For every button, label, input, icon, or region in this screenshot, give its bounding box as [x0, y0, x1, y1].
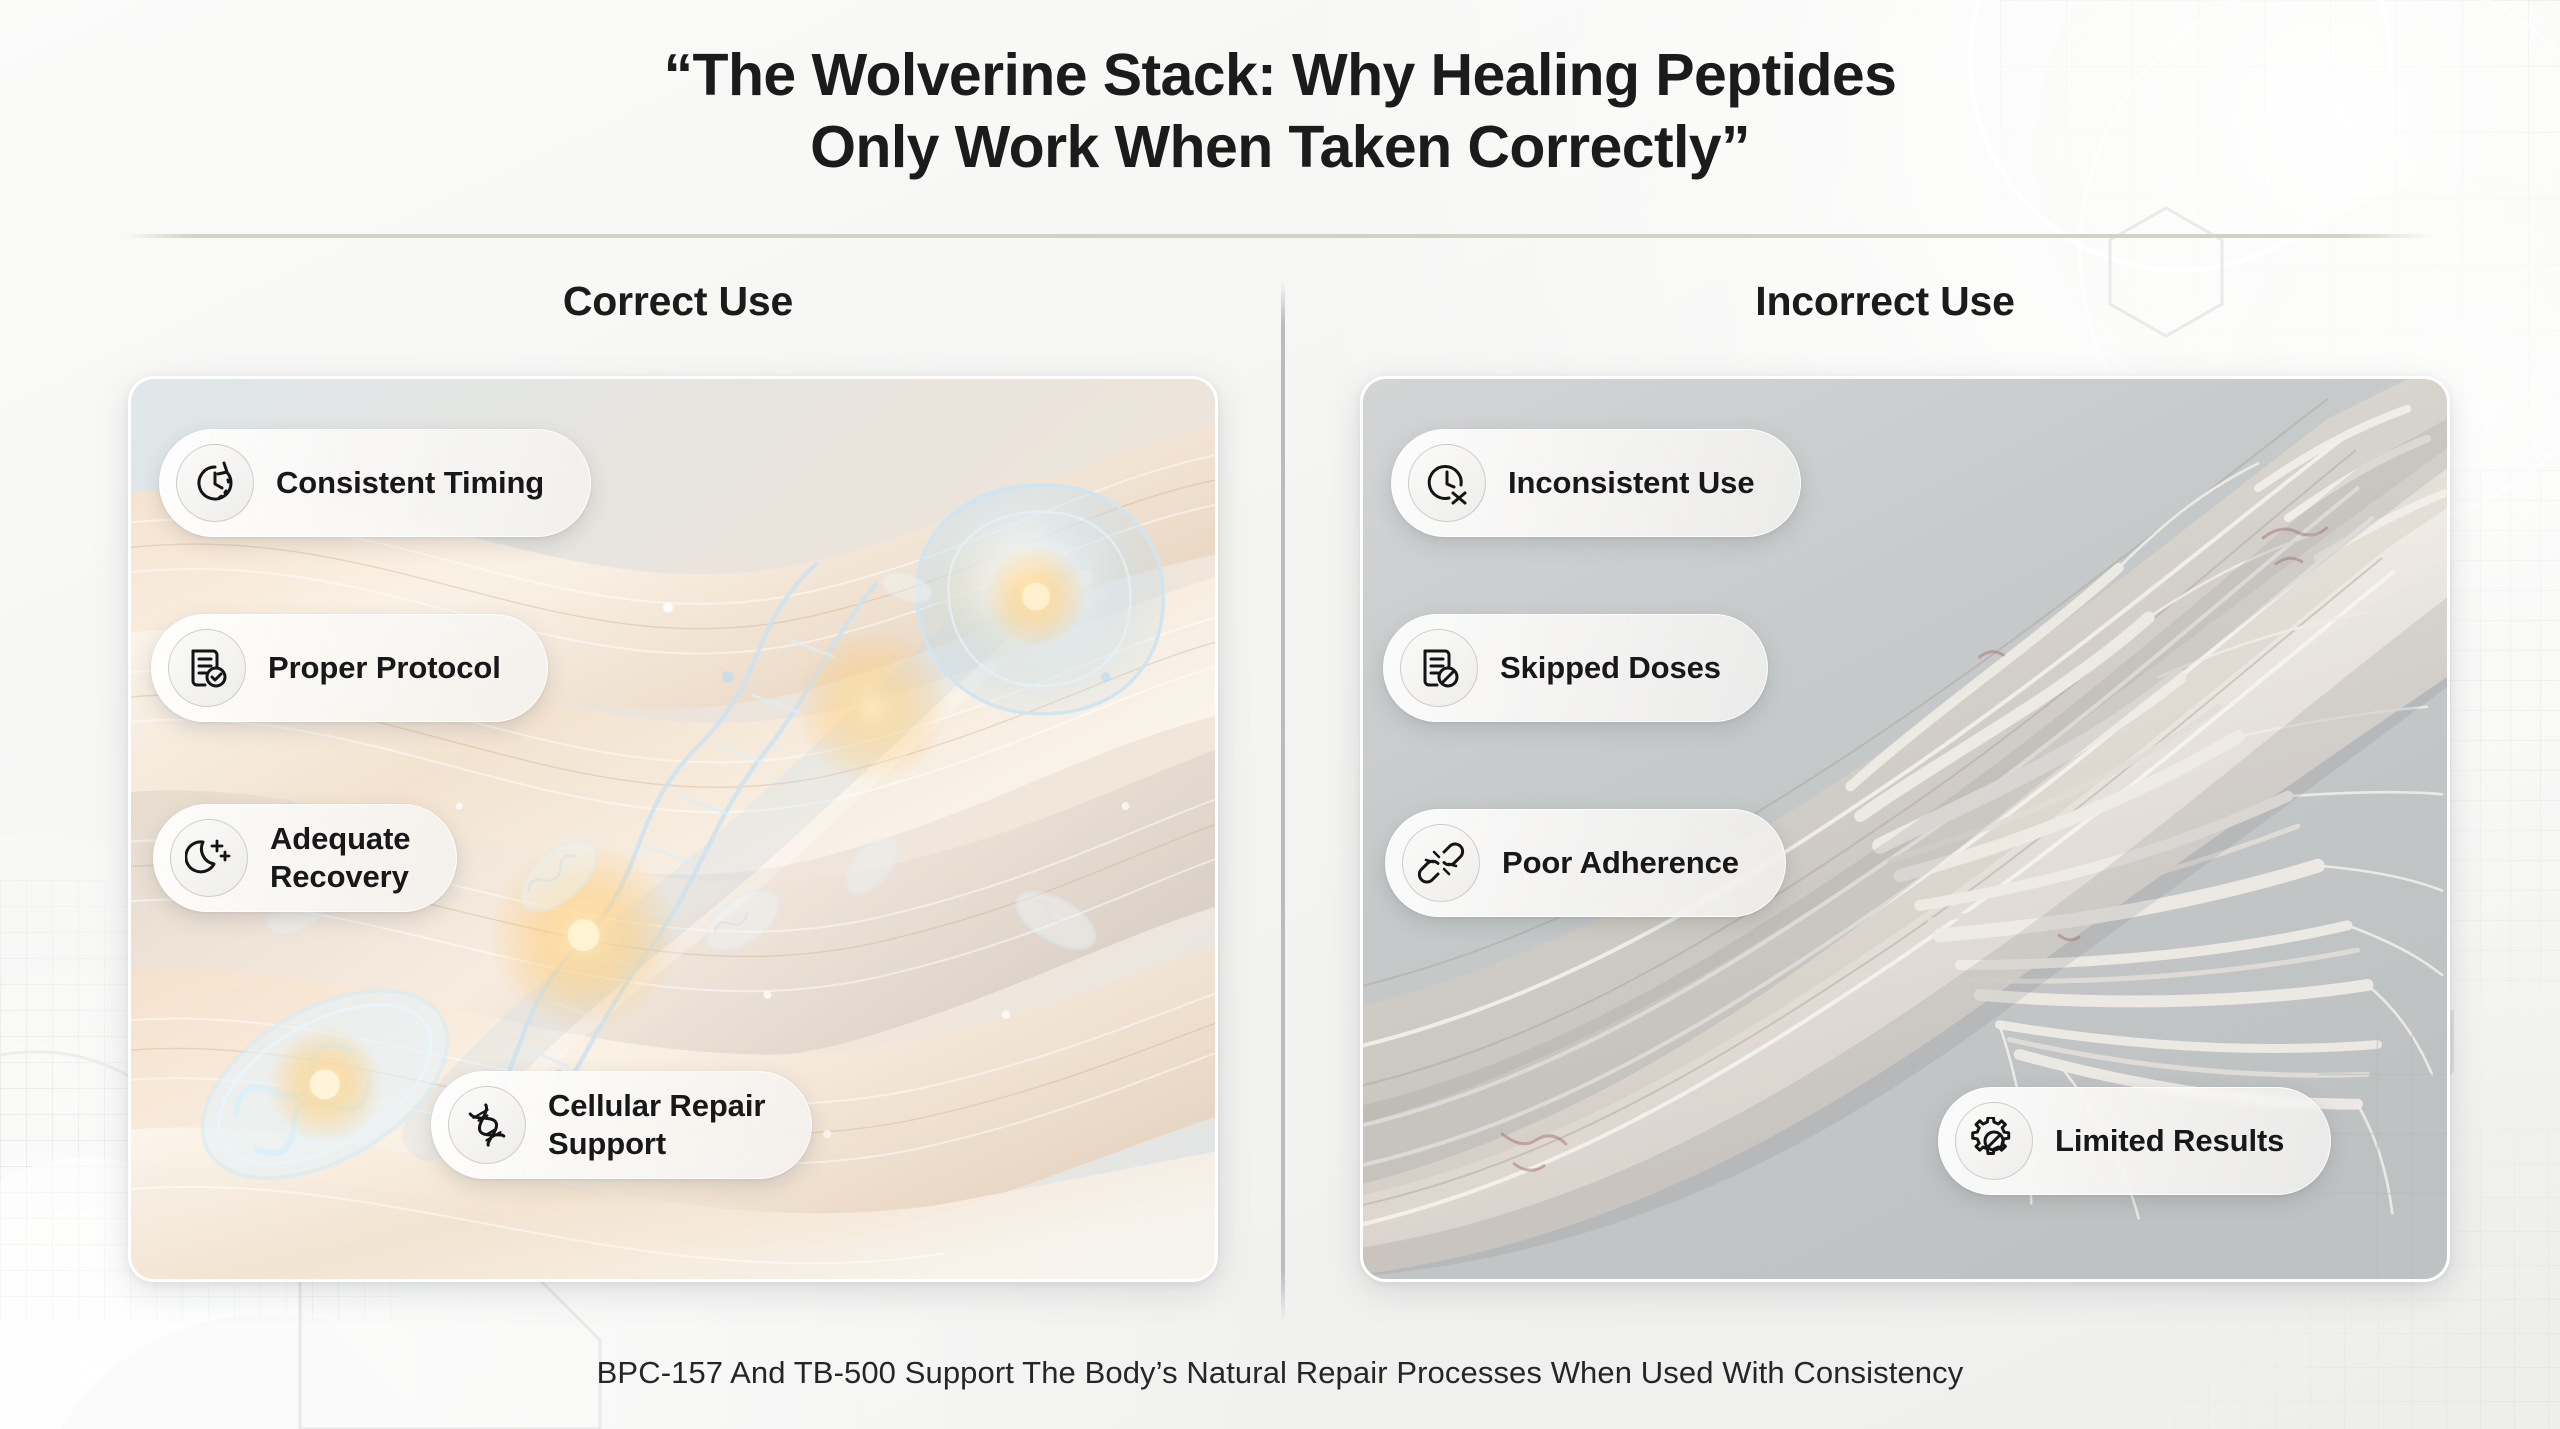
title-underline-rule: [124, 234, 2434, 238]
column-divider: [1281, 282, 1285, 1322]
pill-label: Limited Results: [2055, 1122, 2284, 1160]
page-title-line-1: “The Wolverine Stack: Why Healing Peptid…: [0, 40, 2560, 112]
dna-helix-icon: [448, 1086, 526, 1164]
pill-inconsistent-use[interactable]: Inconsistent Use: [1391, 429, 1801, 537]
pill-limited-results[interactable]: Limited Results: [1938, 1087, 2331, 1195]
pill-label: Consistent Timing: [276, 464, 544, 502]
pill-proper-protocol[interactable]: Proper Protocol: [151, 614, 548, 722]
pill-label: Poor Adherence: [1502, 844, 1739, 882]
gear-block-icon: [1955, 1102, 2033, 1180]
pill-adequate-recovery[interactable]: Adequate Recovery: [153, 804, 457, 912]
clock-x-icon: [1408, 444, 1486, 522]
pill-cellular-repair-support[interactable]: Cellular Repair Support: [431, 1071, 812, 1179]
page-title: “The Wolverine Stack: Why Healing Peptid…: [0, 40, 2560, 184]
pill-consistent-timing[interactable]: Consistent Timing: [159, 429, 591, 537]
correct-use-image-panel: Consistent Timing Proper Protocol: [128, 376, 1218, 1282]
infographic-page: “The Wolverine Stack: Why Healing Peptid…: [0, 0, 2560, 1429]
column-heading-correct: Correct Use: [128, 278, 1228, 325]
document-check-icon: [168, 629, 246, 707]
pill-skipped-doses[interactable]: Skipped Doses: [1383, 614, 1768, 722]
column-heading-incorrect: Incorrect Use: [1340, 278, 2430, 325]
pill-label: Cellular Repair Support: [548, 1087, 765, 1163]
clock-history-icon: [176, 444, 254, 522]
pill-label: Inconsistent Use: [1508, 464, 1754, 502]
broken-link-icon: [1402, 824, 1480, 902]
pill-label: Adequate Recovery: [270, 820, 410, 896]
pill-label: Proper Protocol: [268, 649, 501, 687]
pill-poor-adherence[interactable]: Poor Adherence: [1385, 809, 1786, 917]
pill-label: Skipped Doses: [1500, 649, 1721, 687]
footer-caption: BPC-157 And TB-500 Support The Body’s Na…: [0, 1355, 2560, 1391]
incorrect-use-image-panel: Inconsistent Use Skipped Doses: [1360, 376, 2450, 1282]
moon-stars-icon: [170, 819, 248, 897]
page-title-line-2: Only Work When Taken Correctly”: [0, 112, 2560, 184]
document-block-icon: [1400, 629, 1478, 707]
